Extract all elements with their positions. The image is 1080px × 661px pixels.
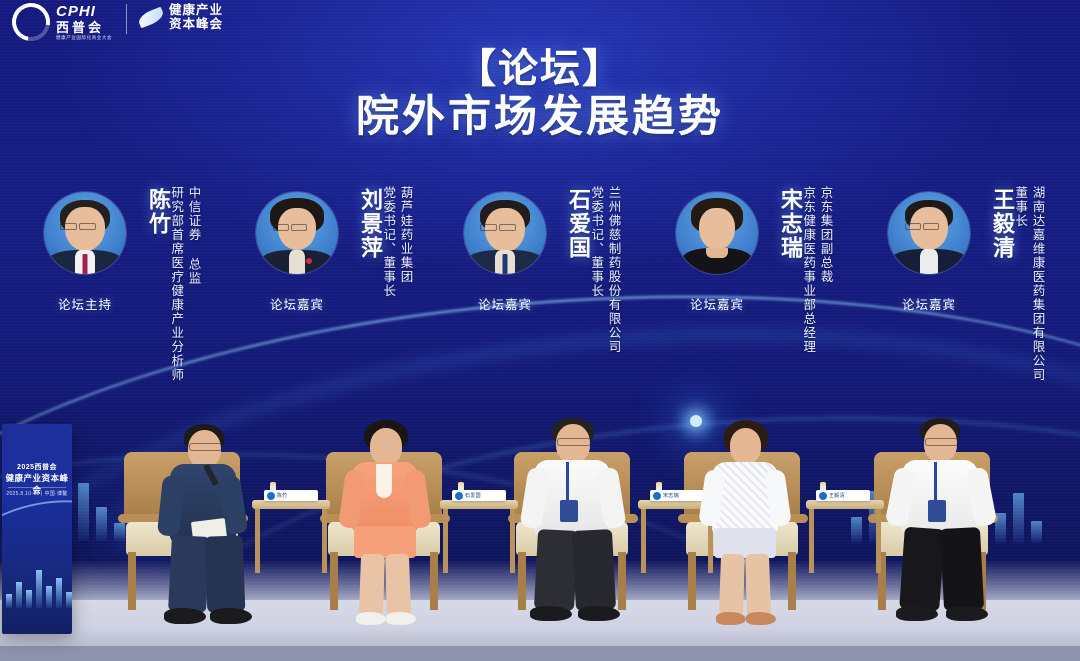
summit-line2: 资本峰会 <box>169 18 223 32</box>
logo-health-capital-summit: 健康产业 资本峰会 <box>138 4 223 31</box>
person-moderator-chen-zhu <box>148 424 278 634</box>
forum-title: 【论坛】 院外市场发展趋势 <box>0 46 1080 144</box>
panelist-title-1-0: 葫芦娃药业集团 <box>397 186 412 298</box>
podium-line1: 2025西普会 <box>2 462 72 472</box>
side-table-3: 王毅清 <box>806 500 884 610</box>
panelist-title-4-1: 董事长 <box>1012 186 1027 382</box>
panelist-strip: 论坛主持 陈竹 中信证券 总监 研究部首席医疗健康产业分析师 论坛嘉宾 刘景萍 … <box>0 178 1080 428</box>
panelist-name-3: 宋志瑞 <box>768 188 802 260</box>
person-panelist-liu-jingping <box>334 420 454 635</box>
forum-title-line2: 院外市场发展趋势 <box>0 92 1080 144</box>
panelist-titles-2: 兰州佛慈制药股份有限公司 党委书记、董事长 <box>588 186 621 354</box>
logo-cphi-en: CPHI <box>56 4 112 19</box>
panelist-title-2-1: 党委书记、董事长 <box>588 186 603 354</box>
panelist-name-1: 刘景萍 <box>348 188 382 260</box>
nameplate-logo-icon-3 <box>819 492 827 500</box>
forum-title-line1: 【论坛】 <box>0 46 1080 92</box>
panelist-name-0: 陈竹 <box>136 188 170 236</box>
nameplate-3: 王毅清 <box>816 490 870 501</box>
nameplate-name-3: 王毅清 <box>829 492 845 499</box>
headshot-song-zhirui-icon <box>676 192 758 274</box>
nameplate-name-1: 石爱国 <box>465 492 481 499</box>
person-panelist-wang-yiqing <box>884 418 1014 636</box>
badge-icon <box>560 500 578 522</box>
person-panelist-shi-aiguo <box>518 418 648 636</box>
panelist-titles-3: 京东集团副总裁 京东健康医药事业部总经理 <box>800 186 833 354</box>
leaf-icon <box>137 7 166 29</box>
person-panelist-song-zhirui <box>694 420 812 636</box>
panelist-name-2: 石爱国 <box>556 188 590 260</box>
panelist-title-1-1: 党委书记、董事长 <box>380 186 395 298</box>
logo-cphi-cn: 西普会 <box>56 21 112 34</box>
headshot-chen-zhu-icon <box>44 192 126 274</box>
panelist-titles-1: 葫芦娃药业集团 党委书记、董事长 <box>380 186 413 298</box>
nameplate-name-2: 宋志瑞 <box>663 492 679 499</box>
panelist-role-0: 论坛主持 <box>38 294 132 313</box>
panelist-title-0-1: 研究部首席医疗健康产业分析师 <box>168 186 183 382</box>
panelist-title-0-0: 中信证券 总监 <box>185 186 200 382</box>
panelist-titles-0: 中信证券 总监 研究部首席医疗健康产业分析师 <box>168 186 201 382</box>
logo-cphi-xipuhui: CPHI 西普会 健康产业国际化商业大会 <box>12 3 112 41</box>
headshot-wang-yiqing-icon <box>888 192 970 274</box>
conference-stage-photo: CPHI 西普会 健康产业国际化商业大会 健康产业 资本峰会 【论坛】 院外市场… <box>0 0 1080 661</box>
header-logo-bar: CPHI 西普会 健康产业国际化商业大会 健康产业 资本峰会 <box>0 0 1080 44</box>
headshot-shi-aiguo-icon <box>464 192 546 274</box>
logo-divider <box>126 4 127 34</box>
cphi-ring-icon <box>5 0 58 48</box>
panelist-role-1: 论坛嘉宾 <box>250 294 344 313</box>
nameplate-1: 石爱国 <box>452 490 506 501</box>
stage-floor-edge <box>0 646 1080 661</box>
podium-line3: 2025.8.10-12 | 中国·博鳌 <box>2 490 72 497</box>
summit-line1: 健康产业 <box>169 4 223 18</box>
panelist-name-4: 王毅清 <box>980 188 1014 260</box>
headshot-liu-jingping-icon <box>256 192 338 274</box>
panelist-titles-4: 湖南达嘉维康医药集团有限公司 董事长 <box>1012 186 1045 382</box>
podium-banner: 2025西普会 健康产业资本峰会 2025.8.10-12 | 中国·博鳌 <box>2 424 72 634</box>
logo-cphi-subtitle: 健康产业国际化商业大会 <box>56 36 112 41</box>
panelist-role-3: 论坛嘉宾 <box>670 294 764 313</box>
panelist-title-3-0: 京东集团副总裁 <box>817 186 832 354</box>
panelist-title-4-0: 湖南达嘉维康医药集团有限公司 <box>1029 186 1044 382</box>
panelist-role-2: 论坛嘉宾 <box>458 294 552 313</box>
panelist-role-4: 论坛嘉宾 <box>882 294 976 313</box>
nameplate-logo-icon-2 <box>653 492 661 500</box>
badge-icon-2 <box>928 500 946 522</box>
panelist-title-3-1: 京东健康医药事业部总经理 <box>800 186 815 354</box>
nameplate-name-0: 陈竹 <box>277 492 288 499</box>
nameplate-logo-icon-1 <box>455 492 463 500</box>
panelist-title-2-0: 兰州佛慈制药股份有限公司 <box>605 186 620 354</box>
